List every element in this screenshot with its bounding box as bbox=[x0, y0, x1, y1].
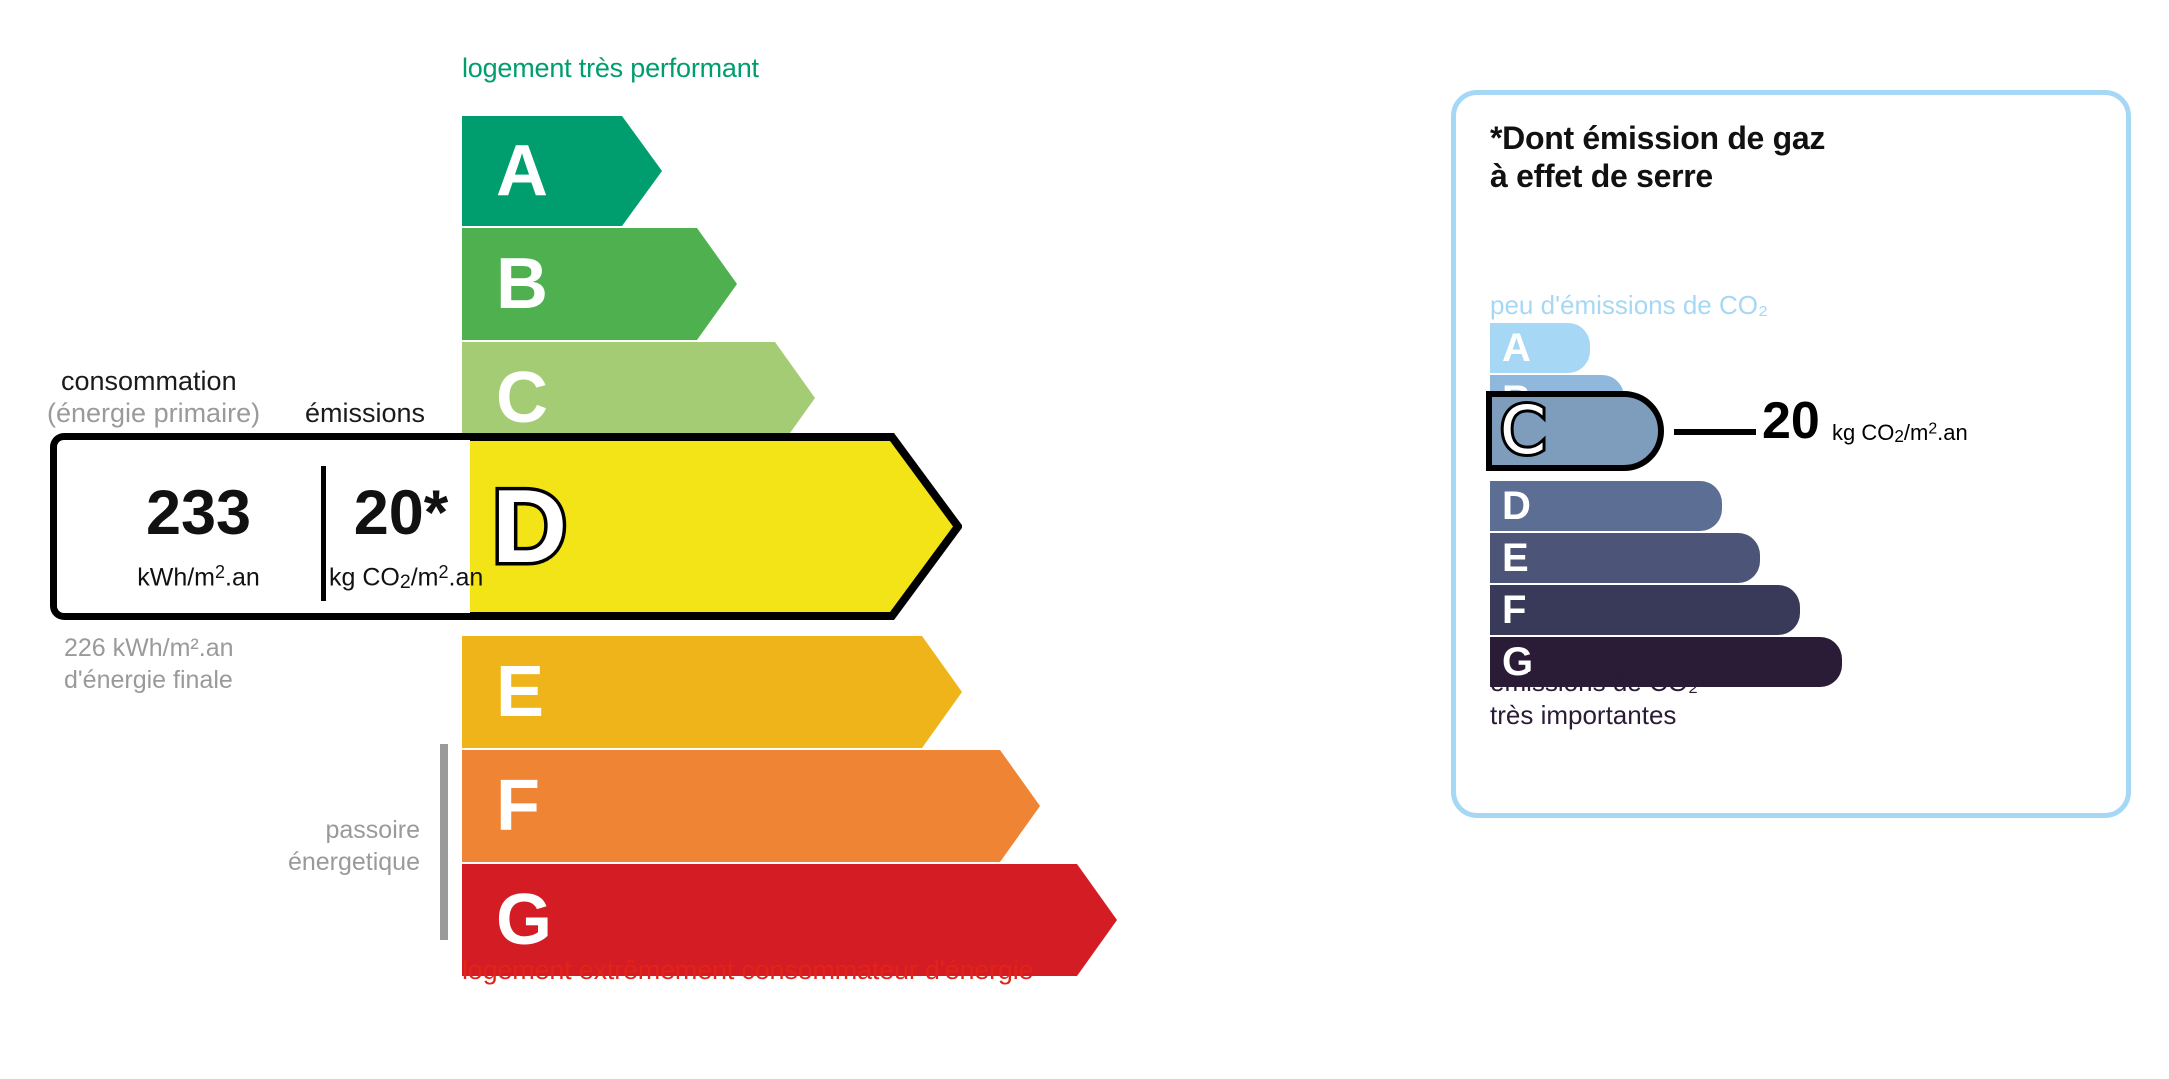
co2-bottom-label: émissions de CO₂ très importantes bbox=[1490, 666, 1698, 731]
energy-bar-e[interactable]: E bbox=[462, 636, 962, 748]
label-energie-primaire: (énergie primaire) bbox=[47, 398, 260, 429]
co2-top-label: peu d'émissions de CO₂ bbox=[1490, 290, 1768, 321]
co2-callout-leader-line bbox=[1674, 429, 1756, 435]
energy-bar-f-shape bbox=[462, 750, 1040, 862]
energy-performance-scale: logement très performant A B C bbox=[0, 0, 1380, 1079]
energy-bar-d-letter: D bbox=[492, 475, 567, 579]
co2-bar-d[interactable]: D bbox=[1490, 481, 1722, 531]
emission-unit: kg CO2/m2.an bbox=[329, 562, 473, 594]
energy-bar-g-letter: G bbox=[496, 884, 552, 956]
energy-bar-f[interactable]: F bbox=[462, 750, 1040, 862]
co2-bar-e-shape bbox=[1490, 533, 1760, 583]
label-emissions: émissions bbox=[305, 398, 425, 429]
energy-bar-a[interactable]: A bbox=[462, 116, 662, 226]
consumption-readout-box: 233 kWh/m2.an 20* kg CO2/m2.an bbox=[50, 433, 470, 620]
passoire-energetique-label: passoire énergetique bbox=[180, 814, 420, 878]
energy-unit: kWh/m2.an bbox=[91, 562, 306, 593]
co2-bar-c-letter: C bbox=[1500, 398, 1546, 464]
co2-callout-unit: kg CO2/m2.an bbox=[1832, 420, 1968, 447]
energy-bar-a-shape bbox=[462, 116, 662, 226]
passoire-indicator-bar bbox=[440, 744, 448, 940]
energy-bar-c-letter: C bbox=[496, 362, 548, 434]
scale-bottom-label: logement extrêmement consommateur d'éner… bbox=[462, 955, 1033, 986]
co2-bar-f-letter: F bbox=[1502, 590, 1526, 630]
co2-callout-value: 20 bbox=[1762, 395, 1820, 447]
final-energy-note: 226 kWh/m².an d'énergie finale bbox=[64, 632, 234, 696]
co2-bar-d-letter: D bbox=[1502, 486, 1531, 526]
co2-bar-f[interactable]: F bbox=[1490, 585, 1800, 635]
readout-divider bbox=[321, 466, 326, 601]
final-energy-line1: 226 kWh/m².an bbox=[64, 632, 234, 664]
co2-title-line1: *Dont émission de gaz bbox=[1490, 120, 1825, 158]
co2-bottom-line2: très importantes bbox=[1490, 699, 1698, 732]
energy-value: 233 bbox=[91, 482, 306, 545]
co2-bar-e-letter: E bbox=[1502, 538, 1529, 578]
co2-emissions-panel: *Dont émission de gaz à effet de serre p… bbox=[1451, 90, 2131, 818]
energy-bar-f-letter: F bbox=[496, 770, 540, 842]
co2-bar-a-letter: A bbox=[1502, 328, 1531, 368]
co2-bottom-line1: émissions de CO₂ bbox=[1490, 666, 1698, 699]
passoire-line1: passoire bbox=[180, 814, 420, 846]
scale-top-label: logement très performant bbox=[462, 53, 759, 84]
co2-bar-a[interactable]: A bbox=[1490, 323, 1590, 373]
emission-value: 20* bbox=[335, 482, 467, 545]
energy-bar-e-letter: E bbox=[496, 656, 544, 728]
energy-bar-b[interactable]: B bbox=[462, 228, 737, 340]
co2-bar-e[interactable]: E bbox=[1490, 533, 1760, 583]
energy-bar-a-letter: A bbox=[496, 135, 548, 207]
co2-bar-c-selected[interactable]: C bbox=[1486, 391, 1664, 471]
final-energy-line2: d'énergie finale bbox=[64, 664, 234, 696]
co2-panel-title: *Dont émission de gaz à effet de serre bbox=[1490, 120, 1825, 196]
label-consommation: consommation bbox=[61, 366, 237, 397]
energy-bar-b-letter: B bbox=[496, 248, 548, 320]
dpe-diagram: logement très performant A B C bbox=[0, 0, 2169, 1079]
co2-bar-f-shape bbox=[1490, 585, 1800, 635]
energy-bar-d-selected[interactable]: D bbox=[462, 433, 962, 620]
co2-title-line2: à effet de serre bbox=[1490, 158, 1825, 196]
passoire-line2: énergetique bbox=[180, 846, 420, 878]
